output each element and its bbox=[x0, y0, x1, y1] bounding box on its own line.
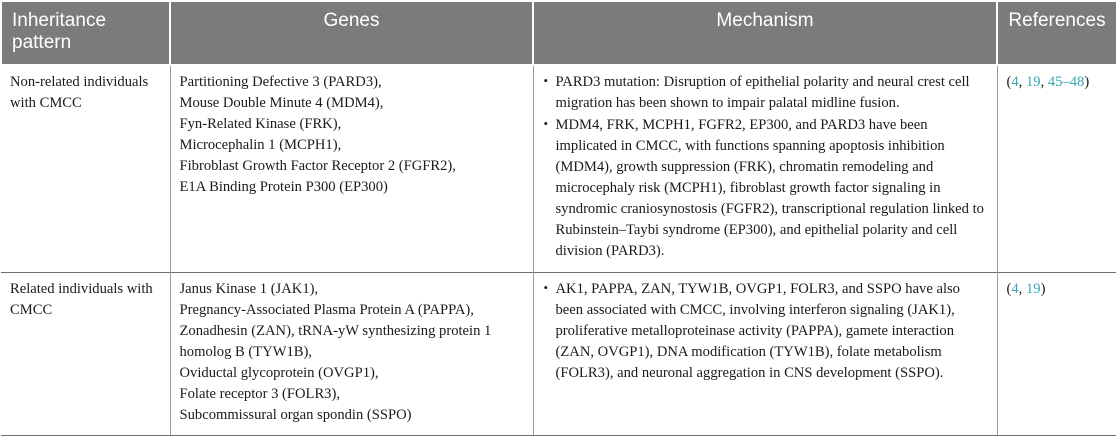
cell-mechanism: AK1, PAPPA, ZAN, TYW1B, OVGP1, FOLR3, an… bbox=[533, 272, 997, 435]
cell-inheritance-pattern: Related individuals with CMCC bbox=[1, 272, 170, 435]
mechanism-bullet-list: PARD3 mutation: Disruption of epithelial… bbox=[543, 72, 988, 262]
gene-list-item: Microcephalin 1 (MCPH1), bbox=[180, 135, 524, 156]
reference-link[interactable]: 4 bbox=[1011, 281, 1018, 297]
gene-list-item: Folate receptor 3 (FOLR3), bbox=[180, 384, 524, 405]
gene-list-item: Pregnancy-Associated Plasma Protein A (P… bbox=[180, 300, 524, 321]
gene-list-item: Mouse Double Minute 4 (MDM4), bbox=[180, 93, 524, 114]
table-header: Inheritance pattern Genes Mechanism Refe… bbox=[1, 1, 1116, 65]
gene-list: Janus Kinase 1 (JAK1), Pregnancy-Associa… bbox=[180, 279, 524, 426]
reference-citation-group: (4, 19) bbox=[1007, 281, 1046, 297]
cell-mechanism: PARD3 mutation: Disruption of epithelial… bbox=[533, 65, 997, 273]
table-body: Non-related individuals with CMCC Partit… bbox=[1, 65, 1116, 436]
gene-list-item: E1A Binding Protein P300 (EP300) bbox=[180, 177, 524, 198]
gene-inheritance-table: Inheritance pattern Genes Mechanism Refe… bbox=[0, 0, 1116, 436]
reference-link[interactable]: 45–48 bbox=[1048, 74, 1084, 90]
reference-link[interactable]: 4 bbox=[1011, 74, 1018, 90]
cell-genes: Janus Kinase 1 (JAK1), Pregnancy-Associa… bbox=[170, 272, 533, 435]
gene-list-item: Janus Kinase 1 (JAK1), bbox=[180, 279, 524, 300]
cell-genes: Partitioning Defective 3 (PARD3), Mouse … bbox=[170, 65, 533, 273]
gene-table-container: Inheritance pattern Genes Mechanism Refe… bbox=[0, 0, 1116, 410]
reference-citation-group: (4, 19, 45–48) bbox=[1007, 74, 1090, 90]
inheritance-pattern-text: Related individuals with CMCC bbox=[10, 281, 153, 318]
gene-list-item: Zonadhesin (ZAN), tRNA-yW synthesizing p… bbox=[180, 321, 524, 342]
gene-list-item: Oviductal glycoprotein (OVGP1), bbox=[180, 363, 524, 384]
gene-list-item: Fibroblast Growth Factor Receptor 2 (FGF… bbox=[180, 156, 524, 177]
gene-list-item: Partitioning Defective 3 (PARD3), bbox=[180, 72, 524, 93]
mechanism-bullet-item: MDM4, FRK, MCPH1, FGFR2, EP300, and PARD… bbox=[543, 115, 988, 262]
column-header-genes: Genes bbox=[170, 1, 533, 65]
reference-link[interactable]: 19 bbox=[1026, 281, 1041, 297]
column-header-references: References bbox=[997, 1, 1116, 65]
table-row: Related individuals with CMCC Janus Kina… bbox=[1, 272, 1116, 435]
gene-list-item: Fyn-Related Kinase (FRK), bbox=[180, 114, 524, 135]
mechanism-bullet-list: AK1, PAPPA, ZAN, TYW1B, OVGP1, FOLR3, an… bbox=[543, 279, 988, 384]
gene-list: Partitioning Defective 3 (PARD3), Mouse … bbox=[180, 72, 524, 198]
gene-list-item: Subcommissural organ spondin (SSPO) bbox=[180, 405, 524, 426]
table-row: Non-related individuals with CMCC Partit… bbox=[1, 65, 1116, 273]
column-header-inheritance-pattern: Inheritance pattern bbox=[1, 1, 170, 65]
cell-references: (4, 19, 45–48) bbox=[997, 65, 1116, 273]
table-header-row: Inheritance pattern Genes Mechanism Refe… bbox=[1, 1, 1116, 65]
inheritance-pattern-text: Non-related individuals with CMCC bbox=[10, 74, 148, 111]
gene-list-item: homolog B (TYW1B), bbox=[180, 342, 524, 363]
cell-references: (4, 19) bbox=[997, 272, 1116, 435]
column-header-mechanism: Mechanism bbox=[533, 1, 997, 65]
mechanism-bullet-item: PARD3 mutation: Disruption of epithelial… bbox=[543, 72, 988, 114]
reference-link[interactable]: 19 bbox=[1026, 74, 1041, 90]
cell-inheritance-pattern: Non-related individuals with CMCC bbox=[1, 65, 170, 273]
mechanism-bullet-item: AK1, PAPPA, ZAN, TYW1B, OVGP1, FOLR3, an… bbox=[543, 279, 988, 384]
